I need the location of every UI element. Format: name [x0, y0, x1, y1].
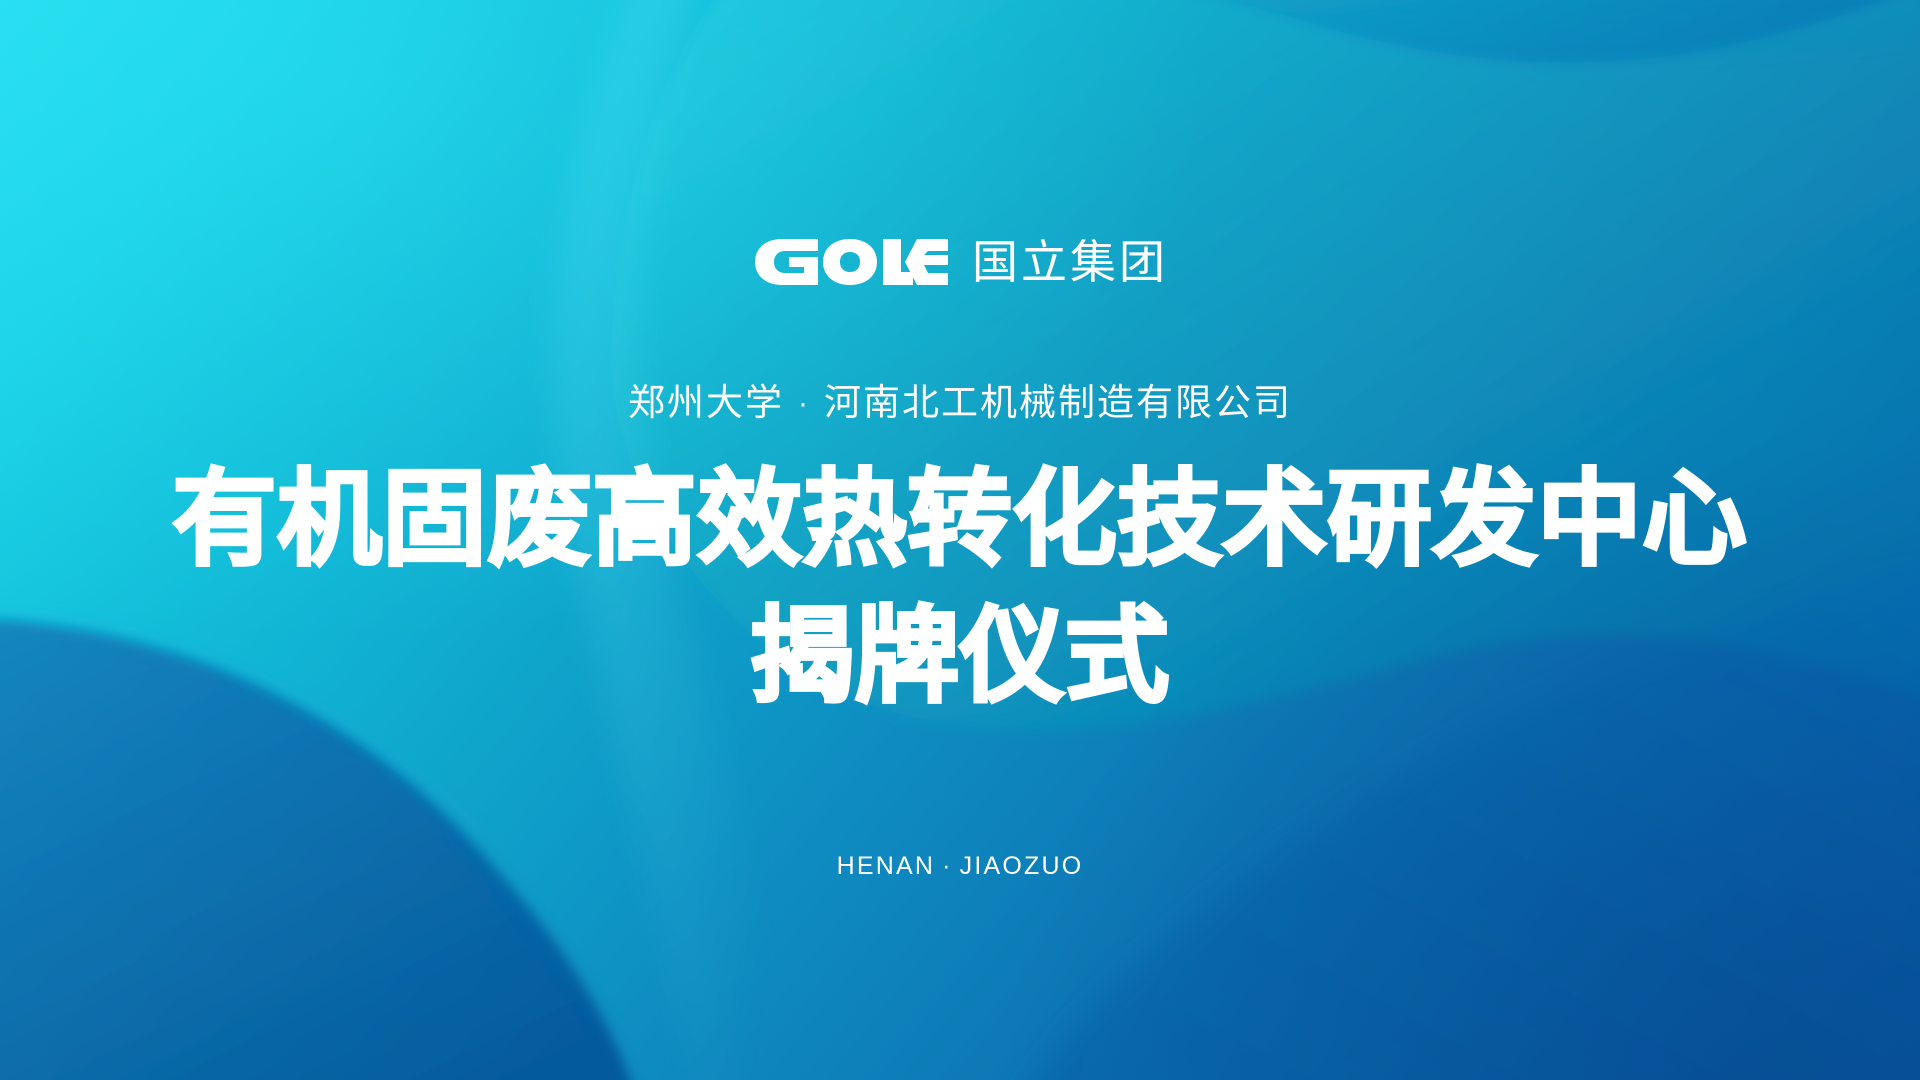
footer-city: JIAOZUO: [960, 852, 1084, 880]
gole-logo-icon: [752, 237, 952, 287]
logo-chinese-name: 国立集团: [972, 239, 1168, 285]
subtitle-separator-dot: ·: [784, 387, 824, 420]
page-title: 有机固废高效热转化技术研发中心 揭牌仪式: [0, 452, 1920, 727]
subtitle-left-org: 郑州大学: [628, 382, 784, 423]
page-title-line-1: 有机固废高效热转化技术研发中心: [0, 452, 1920, 589]
brand-logo-lockup: 国立集团: [0, 232, 1920, 292]
footer-province: HENAN: [837, 852, 936, 880]
subtitle-right-org: 河南北工机械制造有限公司: [824, 382, 1292, 423]
page-title-line-2: 揭牌仪式: [0, 589, 1920, 726]
location-footer: HENAN·JIAOZUO: [0, 852, 1920, 881]
title-slide: 国立集团 郑州大学·河南北工机械制造有限公司 有机固废高效热转化技术研发中心 揭…: [0, 0, 1920, 1080]
slide-content: 国立集团 郑州大学·河南北工机械制造有限公司 有机固废高效热转化技术研发中心 揭…: [0, 0, 1920, 1080]
organizations-subtitle: 郑州大学·河南北工机械制造有限公司: [0, 380, 1920, 426]
footer-separator-dot: ·: [935, 852, 960, 880]
